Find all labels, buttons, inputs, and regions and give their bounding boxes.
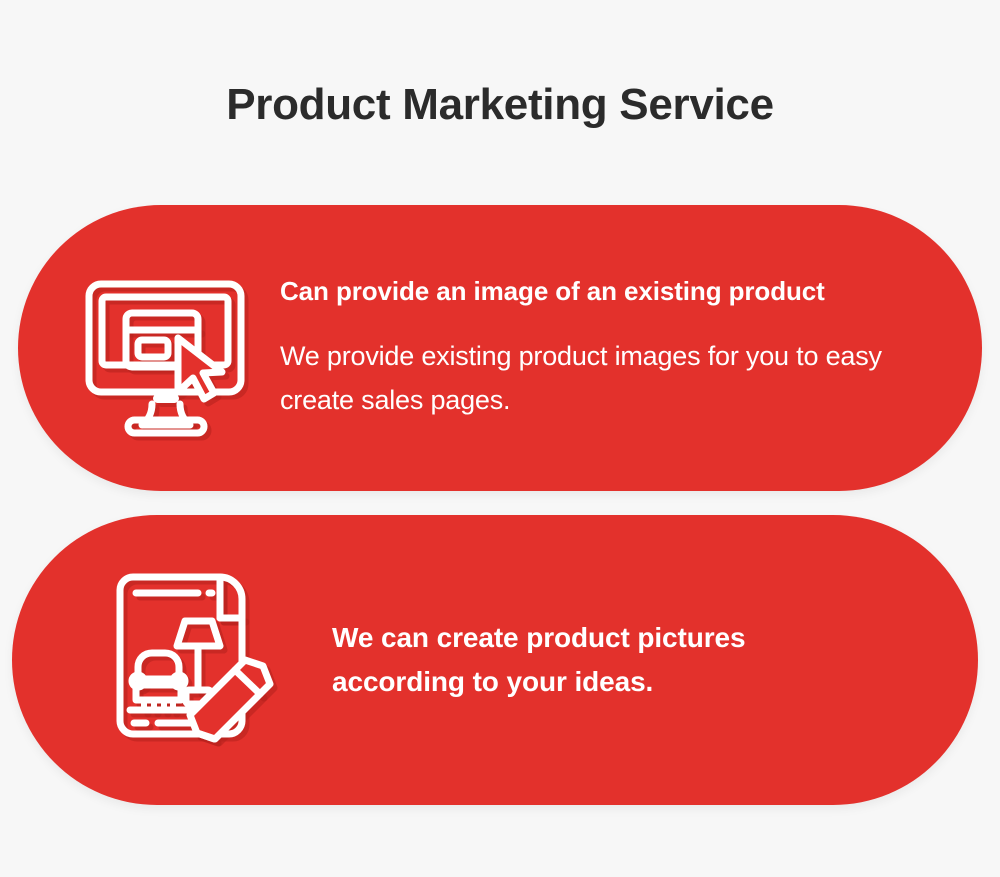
card-2-heading: We can create product pictures according… [332, 616, 832, 704]
card-2-body: We can create product pictures according… [292, 616, 978, 704]
card-1-body: Can provide an image of an existing prod… [258, 274, 982, 422]
monitor-cursor-icon [78, 268, 258, 428]
card-1-text-line-1: We provide existing product images for y… [280, 341, 789, 371]
feature-card-custom-pictures[interactable]: We can create product pictures according… [12, 515, 978, 805]
feature-card-existing-product[interactable]: Can provide an image of an existing prod… [18, 205, 982, 491]
page-title: Product Marketing Service [0, 76, 1000, 134]
card-2-heading-line-1: We can create product pictures [332, 622, 746, 653]
card-1-text: We provide existing product images for y… [280, 334, 930, 422]
card-2-heading-line-2: according to your ideas. [332, 666, 653, 697]
sketch-page-pencil-icon [102, 563, 292, 758]
poster-root: Product Marketing Service [0, 0, 1000, 877]
card-1-heading: Can provide an image of an existing prod… [280, 274, 982, 308]
